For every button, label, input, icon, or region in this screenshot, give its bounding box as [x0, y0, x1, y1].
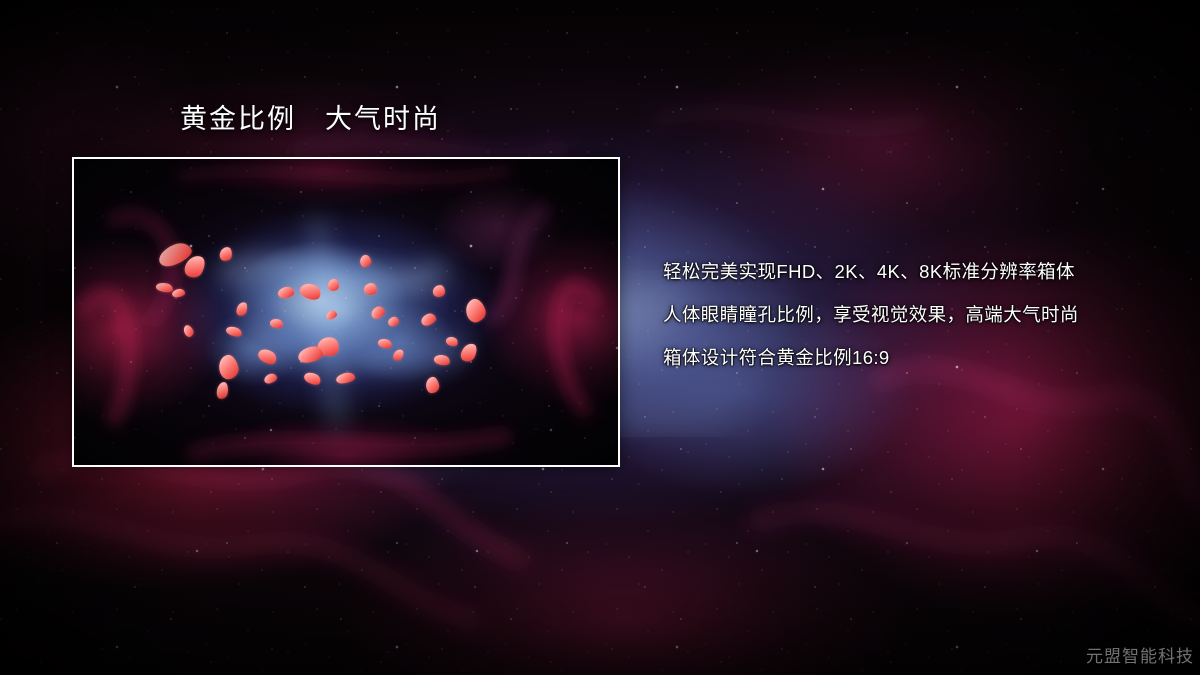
petal [325, 309, 338, 321]
petal [297, 345, 325, 365]
petal [182, 324, 196, 339]
petal [363, 282, 378, 296]
photo-crimson-nebula [74, 159, 618, 465]
photo-stars-large [74, 159, 618, 465]
petal [316, 334, 341, 358]
petal [216, 381, 229, 399]
photo-stars-small [74, 159, 618, 465]
petal [219, 246, 233, 262]
petal [335, 371, 355, 384]
petal [433, 353, 451, 367]
body-line-3: 箱体设计符合黄金比例16:9 [663, 336, 1163, 379]
petal [182, 252, 209, 281]
body-line-2: 人体眼睛瞳孔比例，享受视觉效果，高端大气时尚 [663, 293, 1163, 336]
petal [359, 254, 372, 268]
petal [216, 353, 240, 381]
petal [392, 348, 406, 363]
petal [225, 325, 243, 339]
petal [425, 376, 440, 394]
photo-vignette [74, 159, 618, 465]
petal [263, 372, 278, 385]
petal [445, 335, 459, 348]
petal [256, 346, 279, 367]
photo-blue-core [74, 159, 618, 465]
page-title: 黄金比例 大气时尚 [180, 102, 441, 137]
petal [432, 284, 445, 297]
petal [420, 312, 438, 327]
petal [459, 341, 480, 364]
petal [377, 337, 393, 350]
body-line-1: 轻松完美实现FHD、2K、4K、8K标准分辨率箱体 [663, 250, 1163, 293]
petal [387, 316, 400, 327]
photo-petals-group [74, 159, 618, 465]
petal [298, 280, 323, 302]
photo-base-gradient [74, 159, 618, 465]
petal [302, 370, 322, 387]
petal [156, 239, 195, 269]
petal [369, 304, 386, 320]
petal [277, 286, 294, 299]
photo-image [74, 159, 618, 465]
petal [172, 288, 186, 298]
petal [155, 281, 173, 293]
body-copy: 轻松完美实现FHD、2K、4K、8K标准分辨率箱体 人体眼睛瞳孔比例，享受视觉效… [663, 250, 1163, 379]
photo-nebula-wisps [74, 159, 618, 465]
petal [269, 318, 284, 330]
petal [463, 297, 488, 325]
petal [328, 279, 339, 291]
framed-image-panel [72, 157, 620, 467]
watermark: 元盟智能科技 [1086, 642, 1194, 667]
petal [235, 301, 249, 317]
photo-stars-medium [74, 159, 618, 465]
presentation-slide: 黄金比例 大气时尚 [0, 0, 1200, 675]
